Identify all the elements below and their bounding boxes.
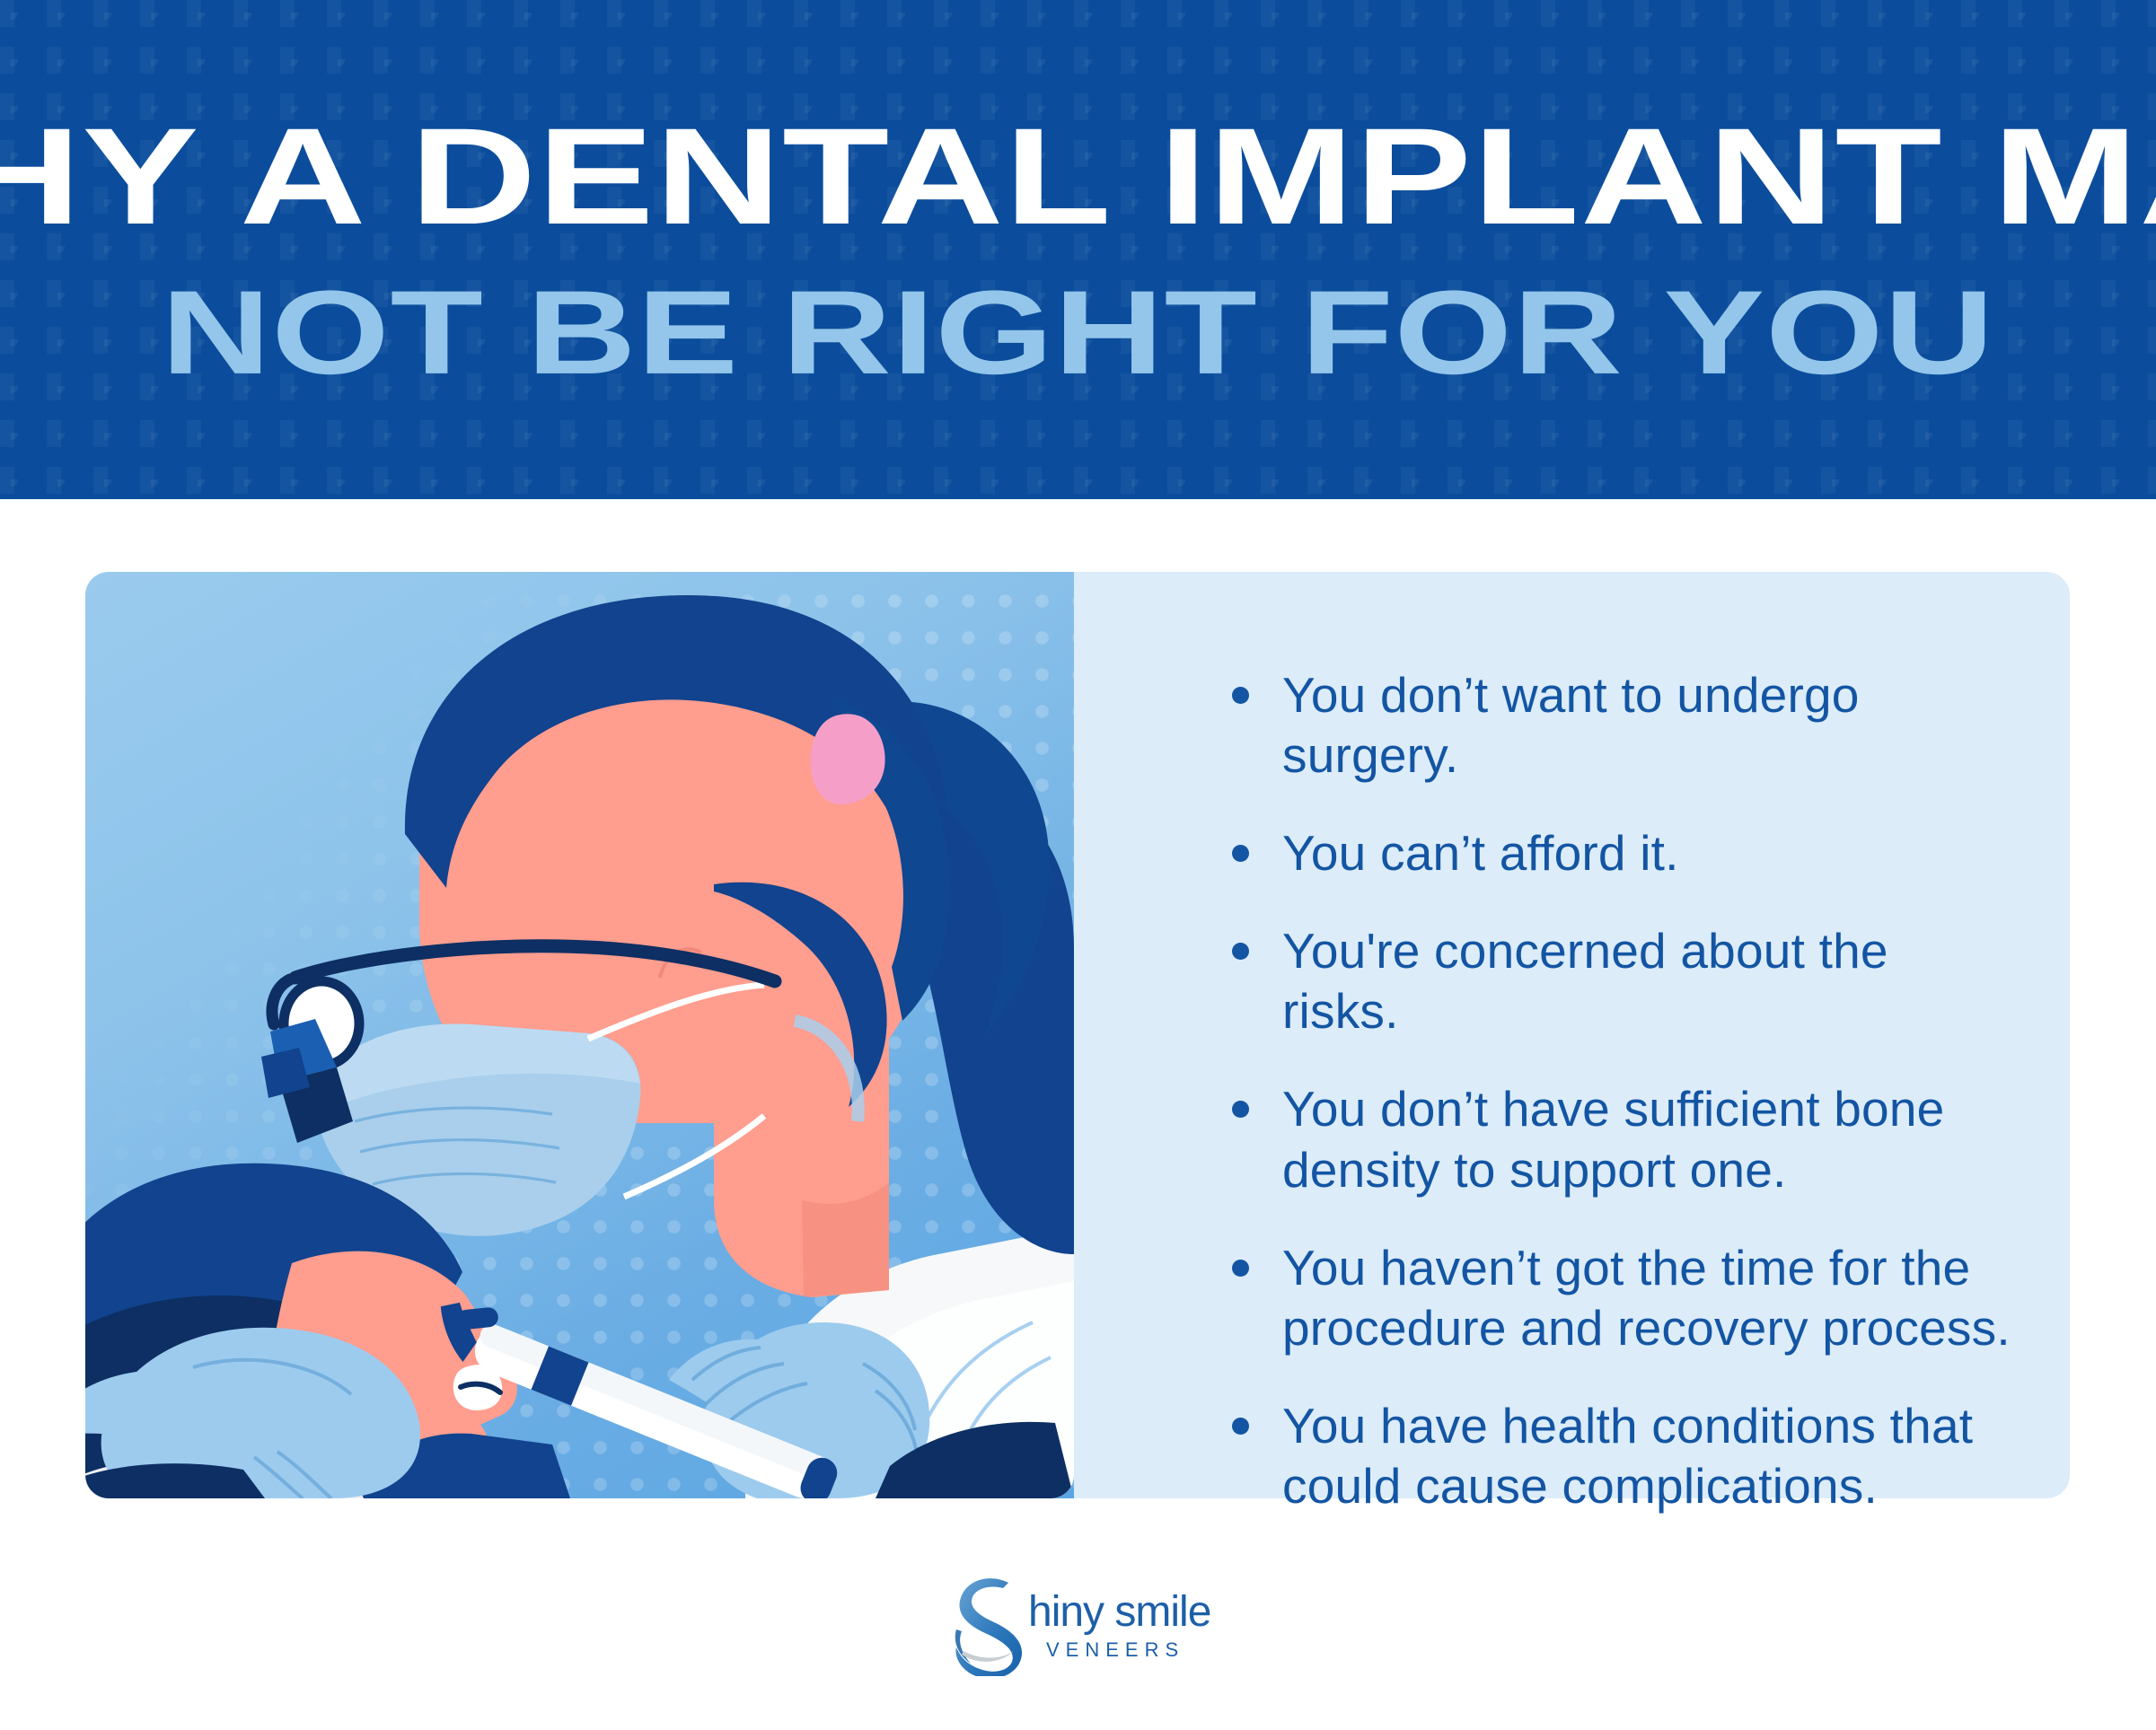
list-item-label: You don’t have sufficient bone density t… bbox=[1282, 1081, 1944, 1197]
page-title: WHY A DENTAL IMPLANT MAY NOT BE RIGHT FO… bbox=[0, 0, 2156, 499]
list-item-label: You're concerned about the risks. bbox=[1282, 923, 1888, 1039]
header-banner: WHY A DENTAL IMPLANT MAY NOT BE RIGHT FO… bbox=[0, 0, 2156, 499]
bullet-dot-icon bbox=[1232, 845, 1249, 862]
svg-text:hiny smile: hiny smile bbox=[1028, 1588, 1210, 1636]
bullet-dot-icon bbox=[1232, 1101, 1249, 1118]
bullet-dot-icon bbox=[1232, 943, 1249, 960]
list-item: You have health conditions that could ca… bbox=[1232, 1396, 2016, 1516]
content-area: You don’t want to undergo surgery. You c… bbox=[85, 572, 2070, 1498]
svg-text:VENEERS: VENEERS bbox=[1046, 1638, 1184, 1661]
list-item-label: You have health conditions that could ca… bbox=[1282, 1398, 1973, 1514]
list-item: You haven’t got the time for the procedu… bbox=[1232, 1238, 2016, 1358]
illustration-panel bbox=[85, 572, 1074, 1498]
reasons-list: You don’t want to undergo surgery. You c… bbox=[1232, 665, 2016, 1516]
bullet-dot-icon bbox=[1232, 687, 1249, 704]
list-item-label: You can’t afford it. bbox=[1282, 825, 1679, 881]
reasons-list-panel: You don’t want to undergo surgery. You c… bbox=[1074, 572, 2070, 1498]
dentist-patient-illustration bbox=[85, 572, 1074, 1498]
title-line-primary: WHY A DENTAL IMPLANT MAY bbox=[0, 108, 2156, 245]
brand-logo: hiny smile VENEERS bbox=[0, 1564, 2156, 1681]
shiny-smile-logo-mark-icon: hiny smile VENEERS bbox=[935, 1568, 1222, 1676]
list-item-label: You haven’t got the time for the procedu… bbox=[1282, 1240, 2011, 1356]
list-item: You can’t afford it. bbox=[1232, 823, 2016, 883]
title-line-secondary: NOT BE RIGHT FOR YOU bbox=[162, 273, 1995, 392]
list-item: You don’t want to undergo surgery. bbox=[1232, 665, 2016, 786]
bullet-dot-icon bbox=[1232, 1260, 1249, 1277]
bullet-dot-icon bbox=[1232, 1418, 1249, 1435]
list-item: You don’t have sufficient bone density t… bbox=[1232, 1079, 2016, 1199]
list-item-label: You don’t want to undergo surgery. bbox=[1282, 667, 1860, 783]
list-item: You're concerned about the risks. bbox=[1232, 921, 2016, 1041]
